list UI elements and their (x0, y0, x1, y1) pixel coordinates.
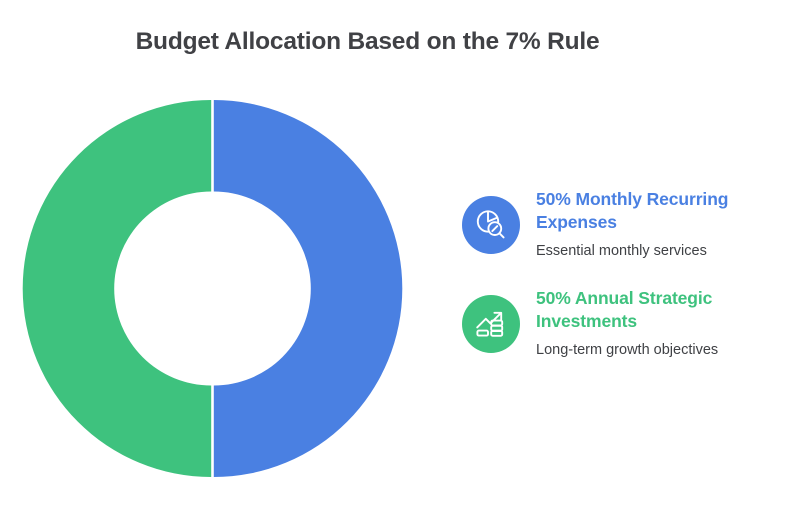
legend-title: 50% Monthly Recurring Expenses (536, 188, 761, 234)
page-title: Budget Allocation Based on the 7% Rule (0, 28, 735, 56)
legend-subtitle: Long-term growth objectives (536, 340, 761, 360)
legend: 50% Monthly Recurring Expenses Essential… (462, 188, 782, 386)
legend-title: 50% Annual Strategic Investments (536, 287, 761, 333)
legend-subtitle: Essential monthly services (536, 241, 761, 261)
legend-item-annual-strategic-investments[interactable]: 50% Annual Strategic Investments Long-te… (462, 287, 782, 360)
legend-text-block: 50% Annual Strategic Investments Long-te… (536, 287, 761, 360)
legend-text-block: 50% Monthly Recurring Expenses Essential… (536, 188, 761, 261)
pie-chart-magnifier-icon (462, 196, 520, 254)
donut-slice-monthly-recurring-expenses[interactable] (214, 100, 402, 477)
donut-chart (22, 98, 403, 479)
donut-slice-annual-strategic-investments[interactable] (23, 100, 212, 477)
growth-arrow-coins-icon (462, 295, 520, 353)
infographic-canvas: Budget Allocation Based on the 7% Rule (0, 0, 800, 508)
donut-chart-svg (22, 98, 403, 479)
legend-item-monthly-recurring-expenses[interactable]: 50% Monthly Recurring Expenses Essential… (462, 188, 782, 261)
